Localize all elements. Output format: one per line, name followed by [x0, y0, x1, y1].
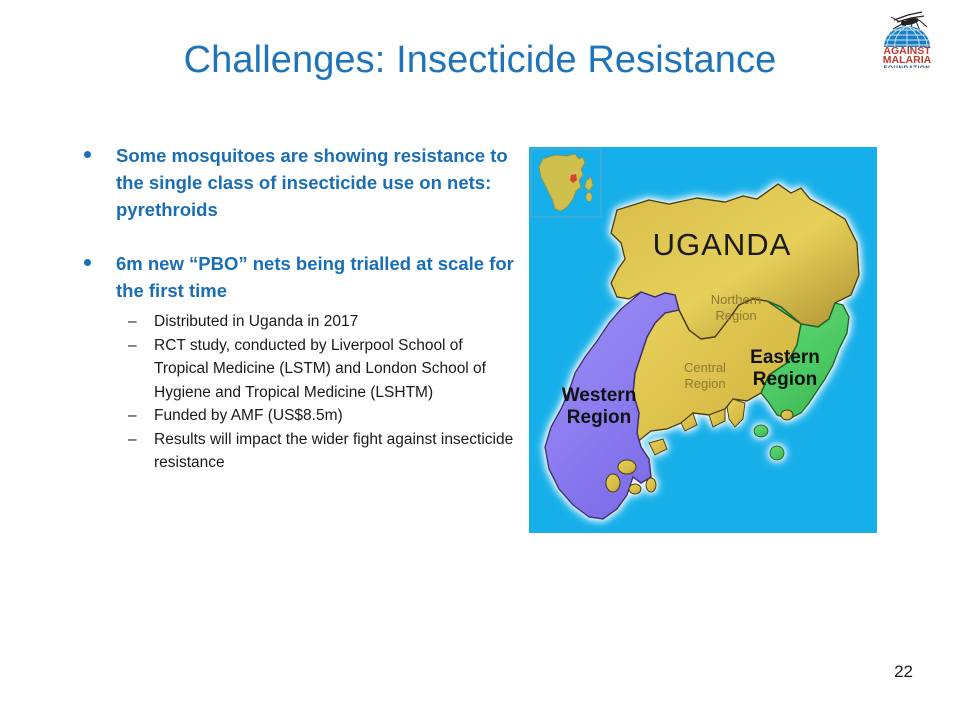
- dash-icon: –: [128, 428, 137, 452]
- sub-bullet-text: Distributed in Uganda in 2017: [154, 313, 358, 330]
- map-label-northern-line2: Region: [715, 308, 756, 323]
- bullet-item-1: Some mosquitoes are showing resistance t…: [74, 142, 514, 223]
- map-label-western-line2: Region: [567, 407, 631, 428]
- sub-bullet-list: – Distributed in Uganda in 2017 – RCT st…: [74, 310, 514, 475]
- bullet-item-2: 6m new “PBO” nets being trialled at scal…: [74, 250, 514, 304]
- africa-locator-inset: [531, 149, 601, 217]
- map-label-central-line2: Region: [684, 376, 725, 391]
- page-title: Challenges: Insecticide Resistance: [0, 38, 960, 82]
- sub-bullet-text: Funded by AMF (US$8.5m): [154, 407, 343, 424]
- sub-bullet-item: – Results will impact the wider fight ag…: [74, 428, 514, 475]
- uganda-regions-map: UGANDA Northern Region Central Region Ea…: [529, 147, 877, 533]
- page-number: 22: [894, 662, 913, 682]
- map-label-eastern-line1: Eastern: [750, 347, 820, 368]
- map-label-central-line1: Central: [684, 360, 726, 375]
- map-country-label: UGANDA: [653, 227, 792, 262]
- map-label-northern-line1: Northern: [711, 292, 762, 307]
- map-label-eastern-line2: Region: [753, 369, 817, 390]
- sub-bullet-text: Results will impact the wider fight agai…: [154, 431, 513, 472]
- bullet-text-1: Some mosquitoes are showing resistance t…: [116, 145, 508, 220]
- slide-canvas: AGAINST MALARIA FOUNDATION Challenges: I…: [0, 0, 960, 720]
- bullet-dot-icon: [84, 151, 91, 158]
- dash-icon: –: [128, 310, 137, 334]
- bullet-text-2: 6m new “PBO” nets being trialled at scal…: [116, 253, 514, 301]
- content-body: Some mosquitoes are showing resistance t…: [74, 142, 514, 475]
- bullet-spacer: [74, 223, 514, 250]
- dash-icon: –: [128, 334, 137, 358]
- dash-icon: –: [128, 404, 137, 428]
- sub-bullet-item: – RCT study, conducted by Liverpool Scho…: [74, 334, 514, 405]
- sub-bullet-text: RCT study, conducted by Liverpool School…: [154, 337, 486, 401]
- sub-bullet-item: – Funded by AMF (US$8.5m): [74, 404, 514, 428]
- sub-bullet-item: – Distributed in Uganda in 2017: [74, 310, 514, 334]
- bullet-dot-icon: [84, 259, 91, 266]
- map-label-western-line1: Western: [562, 385, 637, 406]
